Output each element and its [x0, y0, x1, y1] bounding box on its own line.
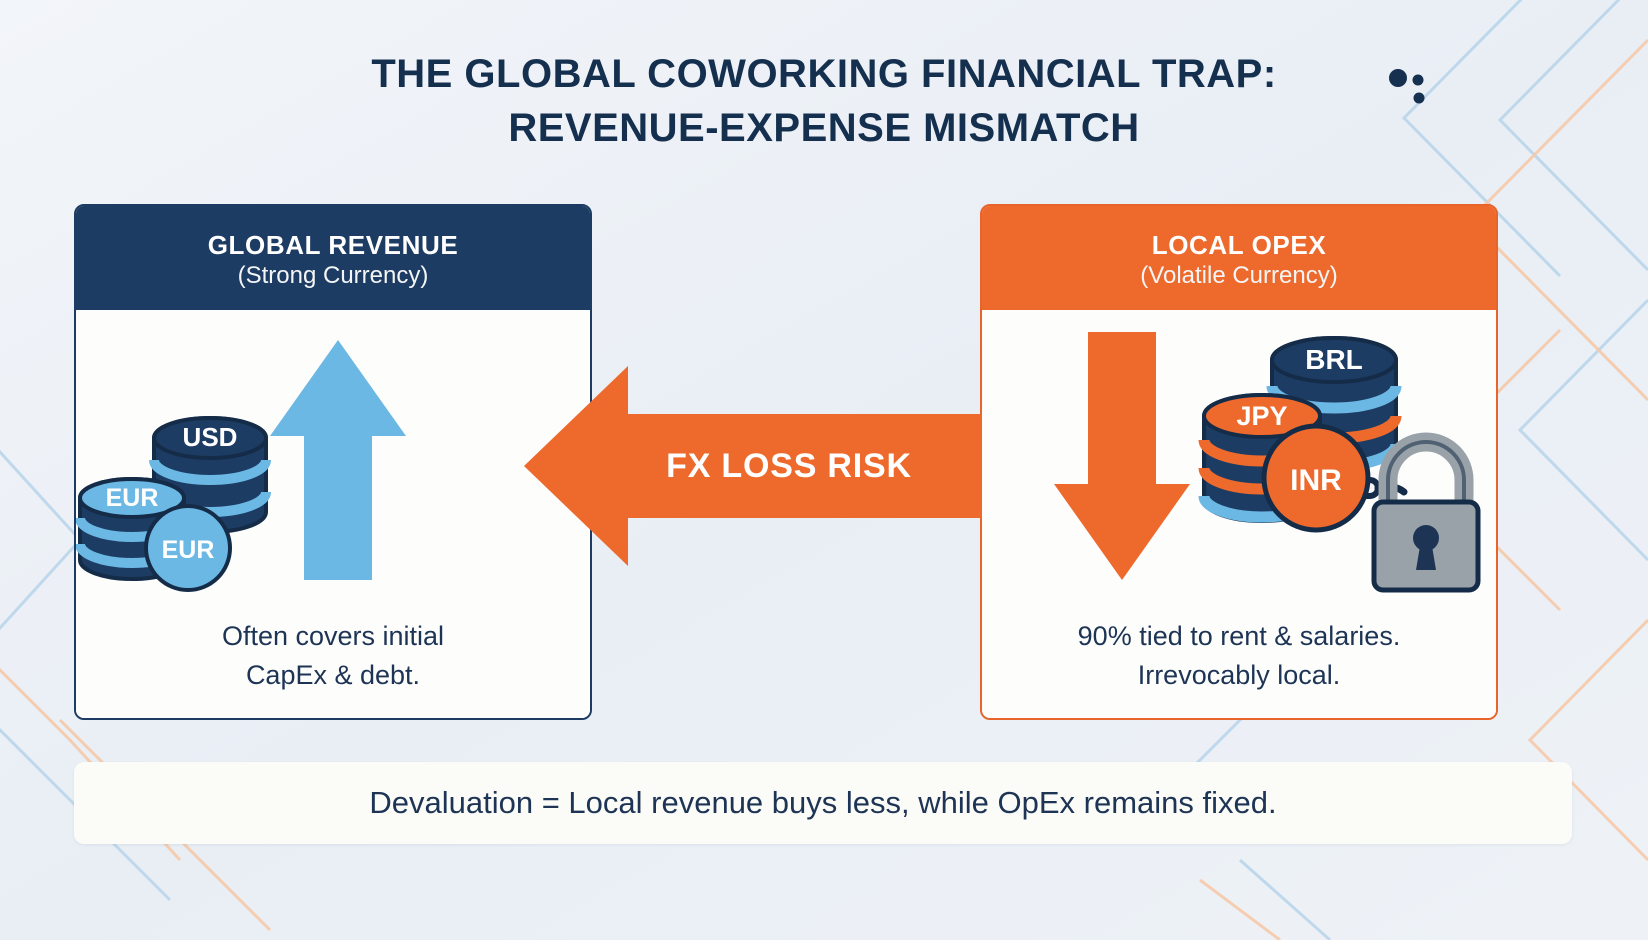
panel-local-opex: LOCAL OPEX (Volatile Currency) BRL	[980, 204, 1498, 720]
left-panel-graphic: USD EUR EUR	[76, 310, 590, 610]
panel-header-subtitle: (Strong Currency)	[238, 263, 429, 289]
title-line-1: THE GLOBAL COWORKING FINANCIAL TRAP:	[0, 48, 1648, 102]
panel-body-local-opex: BRL JPY	[982, 310, 1496, 720]
bottom-banner: Devaluation = Local revenue buys less, w…	[74, 762, 1572, 844]
banner-text: Devaluation = Local revenue buys less, w…	[369, 785, 1276, 821]
svg-text:JPY: JPY	[1236, 401, 1287, 431]
panel-caption-global-revenue: Often covers initial CapEx & debt.	[76, 617, 590, 694]
caption-line-1: 90% tied to rent & salaries.	[982, 617, 1496, 655]
down-arrow-icon	[1054, 332, 1190, 580]
padlock-icon	[1374, 442, 1478, 590]
panel-header-title: GLOBAL REVENUE	[208, 231, 459, 260]
panel-header-title: LOCAL OPEX	[1152, 231, 1327, 260]
right-panel-graphic: BRL JPY	[982, 310, 1496, 610]
panel-header-local-opex: LOCAL OPEX (Volatile Currency)	[982, 206, 1496, 310]
coin-circle-inr: INR	[1264, 426, 1368, 530]
panel-header-subtitle: (Volatile Currency)	[1140, 263, 1337, 289]
page-title: THE GLOBAL COWORKING FINANCIAL TRAP: REV…	[0, 48, 1648, 155]
panel-header-global-revenue: GLOBAL REVENUE (Strong Currency)	[76, 206, 590, 310]
fx-loss-risk-arrow	[524, 352, 982, 580]
up-arrow-icon	[270, 340, 406, 580]
caption-line-2: CapEx & debt.	[76, 656, 590, 694]
caption-line-1: Often covers initial	[76, 617, 590, 655]
caption-line-2: Irrevocably local.	[982, 656, 1496, 694]
svg-text:INR: INR	[1290, 464, 1342, 497]
title-line-2: REVENUE-EXPENSE MISMATCH	[0, 102, 1648, 156]
panel-global-revenue: GLOBAL REVENUE (Strong Currency) USD	[74, 204, 592, 720]
svg-text:BRL: BRL	[1305, 344, 1363, 375]
panel-caption-local-opex: 90% tied to rent & salaries. Irrevocably…	[982, 617, 1496, 694]
svg-text:EUR: EUR	[162, 536, 215, 564]
coin-circle-eur: EUR	[146, 506, 230, 590]
panel-body-global-revenue: USD EUR EUR Often covers initial	[76, 310, 590, 720]
svg-text:USD: USD	[183, 422, 238, 452]
svg-text:EUR: EUR	[106, 484, 159, 512]
